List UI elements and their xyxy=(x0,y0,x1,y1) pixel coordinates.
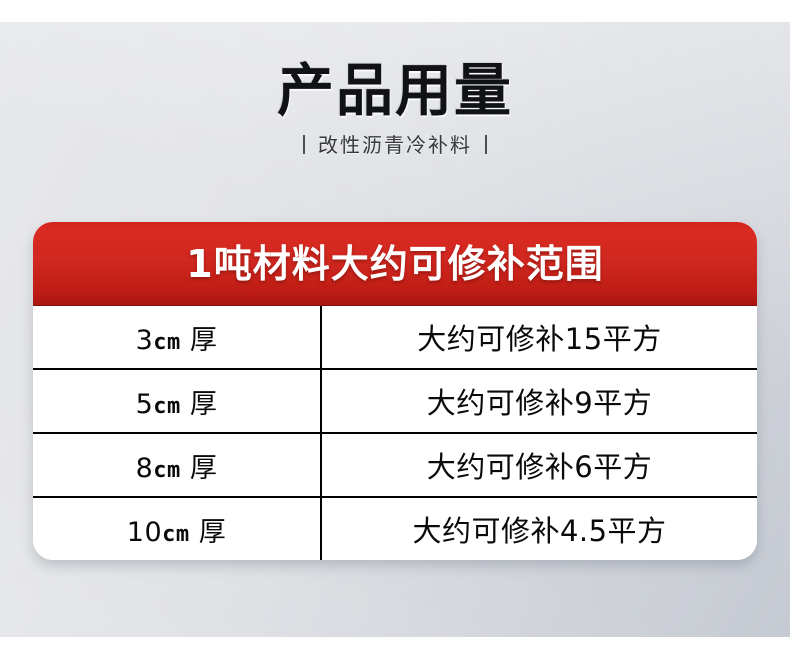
table-row: 10cm 厚 大约可修补4.5平方 xyxy=(33,497,757,560)
right-divider-bar-icon xyxy=(485,135,487,154)
thickness-unit: cm xyxy=(153,394,181,419)
table-row: 8cm 厚 大约可修补6平方 xyxy=(33,433,757,497)
table-row: 3cm 厚 大约可修补15平方 xyxy=(33,306,757,369)
thickness-value: 10 xyxy=(127,517,162,548)
subtitle-row: 改性沥青冷补料 xyxy=(0,135,790,155)
header-block: 产品用量 改性沥青冷补料 xyxy=(0,62,790,155)
page-subtitle: 改性沥青冷补料 xyxy=(318,135,472,155)
thickness-unit: cm xyxy=(153,330,181,355)
thickness-suffix: 厚 xyxy=(181,389,218,420)
cell-thickness: 5cm 厚 xyxy=(33,369,321,433)
usage-table: 3cm 厚 大约可修补15平方 5cm 厚 大约可修补9平方 8cm 厚 大约可… xyxy=(33,306,757,560)
page-title: 产品用量 xyxy=(0,62,790,122)
cell-area: 大约可修补6平方 xyxy=(321,433,757,497)
thickness-value: 5 xyxy=(136,389,154,420)
cell-thickness: 8cm 厚 xyxy=(33,433,321,497)
cell-thickness: 3cm 厚 xyxy=(33,306,321,369)
thickness-unit: cm xyxy=(162,522,190,547)
table-row: 5cm 厚 大约可修补9平方 xyxy=(33,369,757,433)
thickness-suffix: 厚 xyxy=(190,517,227,548)
cell-area: 大约可修补15平方 xyxy=(321,306,757,369)
cell-thickness: 10cm 厚 xyxy=(33,497,321,560)
product-usage-infographic: 产品用量 改性沥青冷补料 1吨材料大约可修补范围 3cm 厚 大约可修补15平方… xyxy=(0,0,790,651)
thickness-unit: cm xyxy=(153,458,181,483)
thickness-value: 8 xyxy=(136,453,154,484)
thickness-suffix: 厚 xyxy=(181,325,218,356)
cell-area: 大约可修补4.5平方 xyxy=(321,497,757,560)
card-banner-title: 1吨材料大约可修补范围 xyxy=(186,245,603,283)
usage-table-card: 1吨材料大约可修补范围 3cm 厚 大约可修补15平方 5cm 厚 大约可修补9… xyxy=(33,222,757,560)
card-banner: 1吨材料大约可修补范围 xyxy=(33,222,757,306)
thickness-suffix: 厚 xyxy=(181,453,218,484)
left-divider-bar-icon xyxy=(303,135,305,154)
cell-area: 大约可修补9平方 xyxy=(321,369,757,433)
thickness-value: 3 xyxy=(136,325,154,356)
